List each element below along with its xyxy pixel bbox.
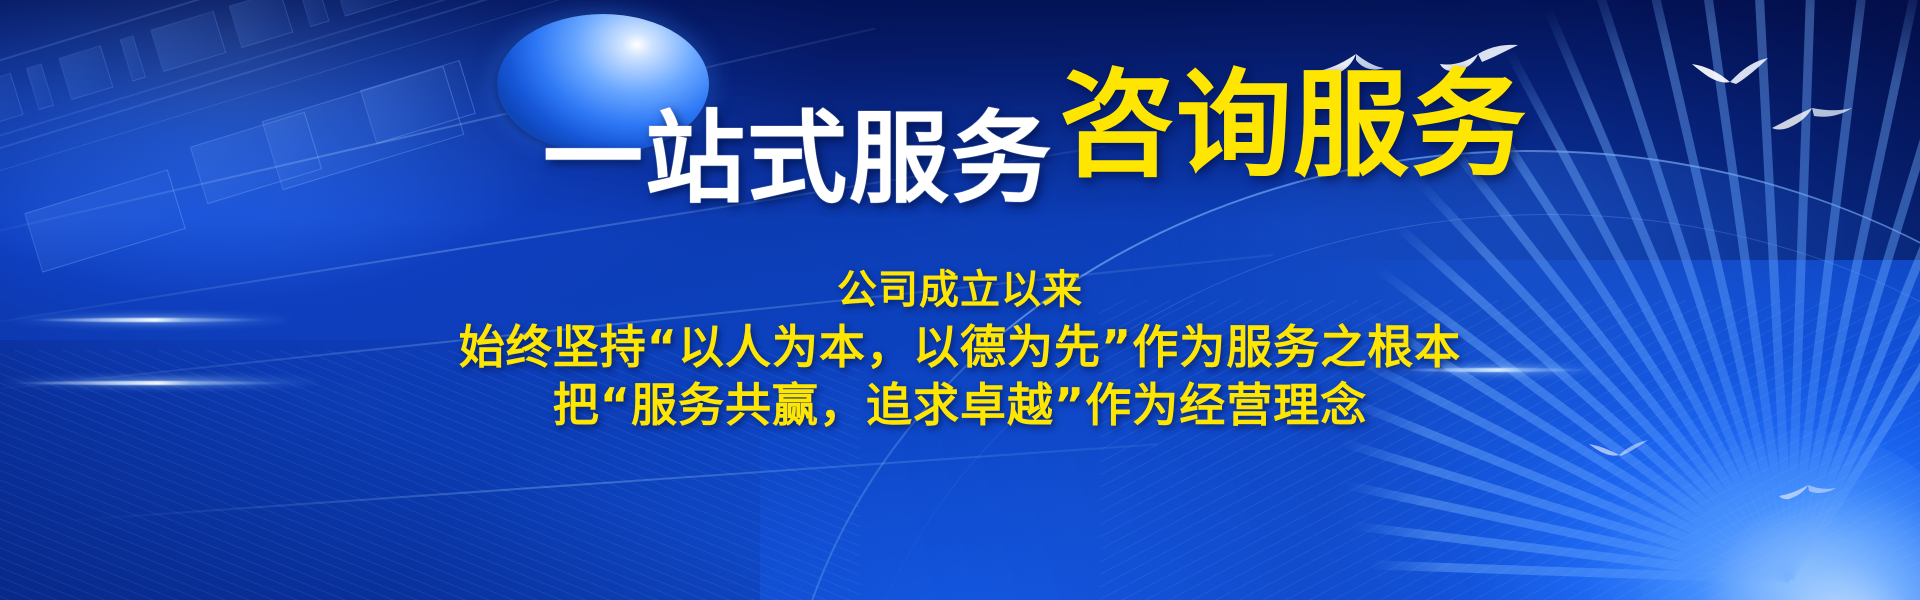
seagull-icon-6	[1588, 438, 1650, 458]
promotional-banner: 一站式服务咨询服务 公司成立以来 始终坚持“以人为本，以德为先”作为服务之根本 …	[0, 0, 1920, 600]
subtitle-line-3: 把“服务共赢，追求卓越”作为经营理念	[0, 376, 1920, 434]
seagull-icon-5	[1778, 482, 1838, 502]
headline-primary-text: 一站式服务	[543, 100, 1053, 217]
subtitle-line-1: 公司成立以来	[0, 262, 1920, 318]
headline-accent-text: 咨询服务	[1059, 58, 1527, 193]
banner-subtitle: 公司成立以来 始终坚持“以人为本，以德为先”作为服务之根本 把“服务共赢，追求卓…	[0, 262, 1920, 434]
subtitle-line-2: 始终坚持“以人为本，以德为先”作为服务之根本	[0, 318, 1920, 376]
banner-headline: 一站式服务咨询服务	[0, 96, 1920, 212]
seagull-icon-3	[1690, 54, 1774, 86]
